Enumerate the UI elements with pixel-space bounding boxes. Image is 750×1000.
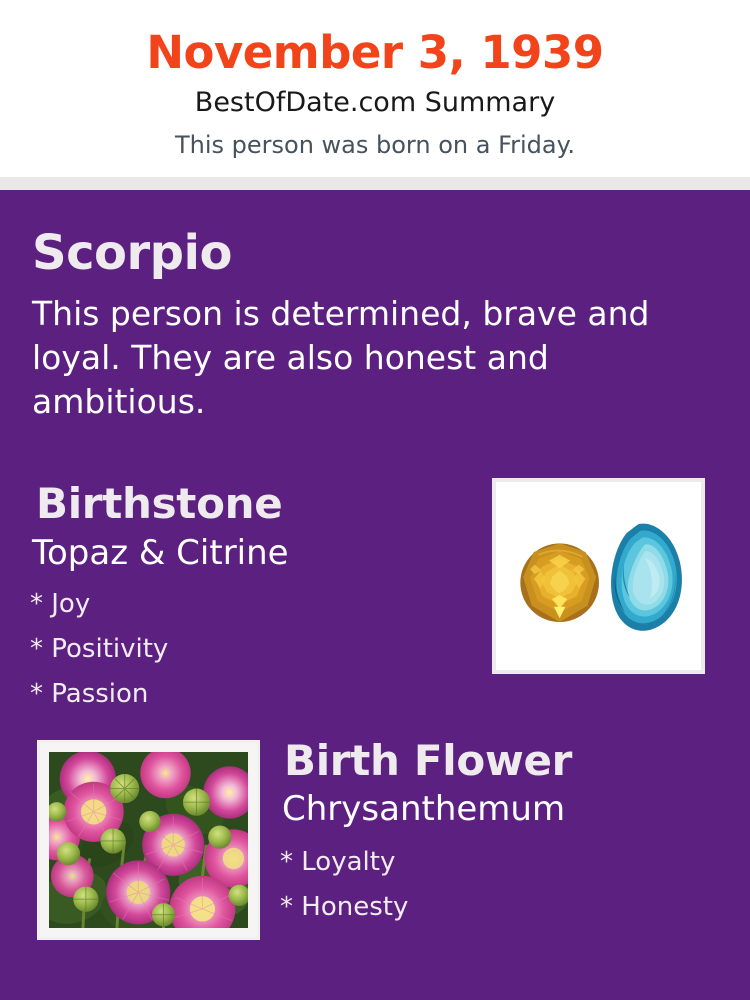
summary-page: November 3, 1939 BestOfDate.com Summary … bbox=[0, 0, 750, 1000]
list-item: * Passion bbox=[30, 672, 450, 717]
site-summary-label: BestOfDate.com Summary bbox=[0, 86, 750, 120]
birth-flower-heading: Birth Flower bbox=[284, 735, 572, 787]
flower-canvas bbox=[49, 752, 248, 928]
citrine-gem bbox=[520, 543, 599, 622]
page-header: November 3, 1939 BestOfDate.com Summary … bbox=[0, 0, 750, 177]
birthstone-name: Topaz & Citrine bbox=[32, 532, 289, 574]
born-weekday-text: This person was born on a Friday. bbox=[0, 129, 750, 161]
summary-panel: Scorpio This person is determined, brave… bbox=[0, 190, 750, 1000]
gemstones-image bbox=[496, 482, 701, 670]
list-item: * Honesty bbox=[280, 885, 700, 930]
zodiac-sign-heading: Scorpio bbox=[32, 224, 232, 282]
header-divider bbox=[0, 177, 750, 190]
birthstone-heading: Birthstone bbox=[36, 478, 282, 530]
birthstone-trait-list: * Joy * Positivity * Passion bbox=[30, 582, 450, 717]
birth-flower-name: Chrysanthemum bbox=[282, 788, 565, 830]
birth-flower-image-frame bbox=[37, 740, 260, 940]
birth-flower-trait-list: * Loyalty * Honesty bbox=[280, 840, 700, 930]
list-item: * Joy bbox=[30, 582, 450, 627]
zodiac-description: This person is determined, brave and loy… bbox=[32, 292, 702, 424]
birthstone-image-frame bbox=[492, 478, 705, 674]
page-title: November 3, 1939 bbox=[0, 25, 750, 81]
chrysanthemum-image bbox=[49, 752, 248, 928]
list-item: * Positivity bbox=[30, 627, 450, 672]
list-item: * Loyalty bbox=[280, 840, 700, 885]
